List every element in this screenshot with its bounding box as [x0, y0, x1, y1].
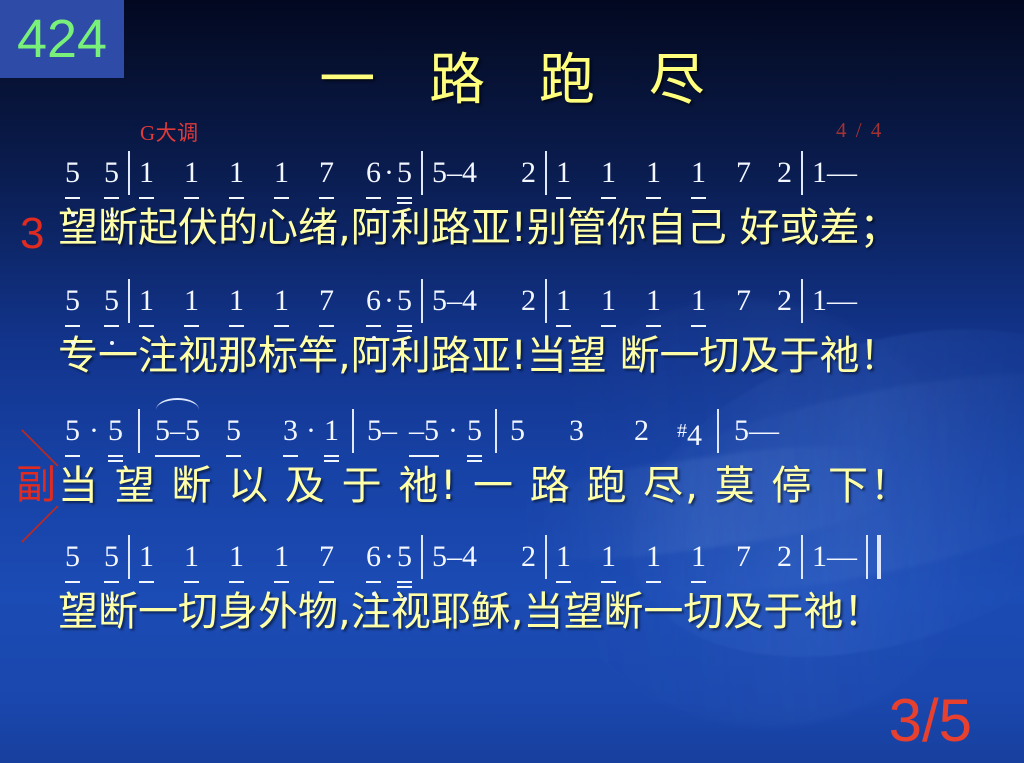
music-system: 5 5 1 1 1 1 7 6 · 5 5–4 2 [0, 150, 1024, 258]
final-barline-icon [866, 535, 881, 579]
note: 5 [396, 278, 413, 324]
note: 5–4 [431, 150, 478, 196]
note: 3 [568, 408, 585, 454]
note: 5 [225, 408, 242, 454]
note: 5 [64, 150, 81, 196]
note: 5 [107, 408, 124, 454]
note: 2 [520, 534, 537, 580]
note: 1 [600, 278, 617, 324]
note-tied: 5–5 [154, 408, 201, 454]
note: 1–– [811, 150, 858, 196]
note: 5 [466, 408, 483, 454]
note: 1 [600, 150, 617, 196]
note: 1 [690, 534, 707, 580]
note: 1 [323, 408, 340, 454]
dotted-rhythm-dot: · [382, 534, 396, 580]
barline-icon [128, 535, 130, 579]
note: 1 [690, 150, 707, 196]
note: 6 [365, 150, 382, 196]
time-signature: 4 / 4 [836, 118, 883, 143]
note: 1–– [811, 534, 858, 580]
note: 5 [396, 534, 413, 580]
note: 2 [520, 150, 537, 196]
note: 5 [64, 408, 81, 454]
dotted-rhythm-dot: · [382, 150, 396, 196]
note: 1 [138, 150, 155, 196]
barline-icon [717, 409, 719, 453]
note-sharp: #4 [676, 408, 703, 459]
note: 1 [183, 150, 200, 196]
note: 1 [555, 534, 572, 580]
note: 5–4 [431, 278, 478, 324]
page-indicator: 3/5 [889, 691, 972, 751]
notation-row: 5 5 1 1 1 1 7 6 · 5 5–4 2 [0, 534, 1024, 586]
note: 5 [64, 278, 81, 324]
notation-row: 5 5 1 1 1 1 7 6 · 5 5–4 2 [0, 278, 1024, 330]
note: 7 [318, 278, 335, 324]
music-system: 5 5 1 1 1 1 7 6 · 5 5–4 2 [0, 534, 1024, 642]
notation-row: 5 5 1 1 1 1 7 6 · 5 5–4 2 [0, 150, 1024, 202]
note: 1 [183, 534, 200, 580]
note: 1 [228, 278, 245, 324]
notation-row: 5 · 5 5–5 5 3 · 1 5– –5 · 5 [0, 408, 1024, 460]
note: 1 [645, 534, 662, 580]
note: 5 [103, 150, 120, 196]
barline-icon [421, 151, 423, 195]
note: 1 [645, 278, 662, 324]
dotted-rhythm-dot: · [382, 278, 396, 324]
note: –5 [408, 408, 440, 454]
lyrics-row: 望断一切身外物,注视耶稣,当望断一切及于祂！ [0, 586, 1024, 642]
note: 5 [396, 150, 413, 196]
barline-icon [545, 151, 547, 195]
barline-icon [545, 535, 547, 579]
note: 1 [555, 278, 572, 324]
barline-icon [421, 535, 423, 579]
note: 7 [318, 150, 335, 196]
music-system: 5 5 1 1 1 1 7 6 · 5 5–4 2 [0, 278, 1024, 386]
barline-icon [128, 151, 130, 195]
note: 2 [776, 534, 793, 580]
lyrics-row: 当 望 断 以 及 于 祂! 一 路 跑 尽, 莫 停 下！ [0, 460, 1024, 516]
page-title: 一 路 跑 尽 [0, 52, 1024, 111]
note: 7 [735, 278, 752, 324]
barline-icon [352, 409, 354, 453]
note: 1 [228, 150, 245, 196]
note: 1 [273, 534, 290, 580]
dotted-rhythm-dot: · [440, 408, 466, 454]
note: 5–– [733, 408, 780, 454]
note: 1 [555, 150, 572, 196]
barline-icon [421, 279, 423, 323]
note: 6 [365, 278, 382, 324]
barline-icon [128, 279, 130, 323]
note: 1 [273, 150, 290, 196]
note: 7 [735, 150, 752, 196]
key-signature: G大调 [140, 117, 199, 147]
note: 1 [645, 150, 662, 196]
note: 2 [776, 150, 793, 196]
music-score: 5 5 1 1 1 1 7 6 · 5 5–4 2 [0, 150, 1024, 642]
barline-icon [545, 279, 547, 323]
note: 5–4 [431, 534, 478, 580]
note: 7 [318, 534, 335, 580]
barline-icon [801, 535, 803, 579]
note: 1–– [811, 278, 858, 324]
dotted-rhythm-dot: · [299, 408, 323, 454]
note: 7 [735, 534, 752, 580]
tie-slur-icon [156, 398, 199, 412]
barline-icon [801, 151, 803, 195]
music-system-chorus: 5 · 5 5–5 5 3 · 1 5– –5 · 5 [0, 408, 1024, 516]
note: 2 [520, 278, 537, 324]
note: 5 [509, 408, 526, 454]
lyrics-row: 望断起伏的心绪,阿利路亚!别管你自己 好或差； [0, 202, 1024, 258]
note: 2 [776, 278, 793, 324]
note: 5 [64, 534, 81, 580]
note: 3 [282, 408, 299, 454]
note: 5 [103, 534, 120, 580]
hymn-slide: 424 一 路 跑 尽 G大调 4 / 4 3 ／ 副 ＼ 5 5 1 1 1 … [0, 0, 1024, 763]
lyrics-row: 专一注视那标竿,阿利路亚!当望 断一切及于祂！ [0, 330, 1024, 386]
note: 1 [690, 278, 707, 324]
note: 1 [600, 534, 617, 580]
note: 1 [228, 534, 245, 580]
note: 6 [365, 534, 382, 580]
note: 2 [633, 408, 650, 454]
dotted-rhythm-dot: · [81, 408, 107, 454]
note: 1 [138, 278, 155, 324]
note: 1 [273, 278, 290, 324]
barline-icon [495, 409, 497, 453]
note: 1 [183, 278, 200, 324]
note: 1 [138, 534, 155, 580]
note: 5 [103, 278, 120, 324]
barline-icon [138, 409, 140, 453]
barline-icon [801, 279, 803, 323]
note: 5– [366, 408, 398, 454]
